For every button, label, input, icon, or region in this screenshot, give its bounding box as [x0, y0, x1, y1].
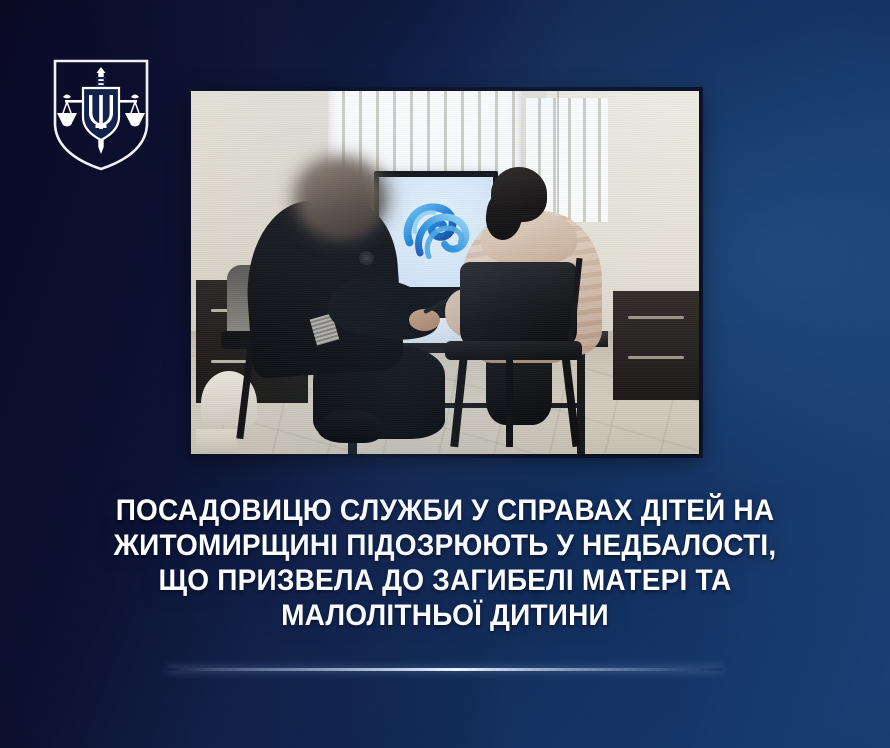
headline-line-2: ЖИТОМИРЩИНІ ПІДОЗРЮЮТЬ У НЕДБАЛОСТІ, — [65, 528, 825, 563]
news-photograph — [189, 89, 701, 456]
page-title: ПОСАДОВИЦЮ СЛУЖБИ У СПРАВАХ ДІТЕЙ НА ЖИТ… — [45, 493, 845, 633]
prosecutor-emblem-icon — [49, 55, 153, 173]
office-chair-foreground — [460, 262, 577, 349]
headline-line-3: ЩО ПРИЗВЕЛА ДО ЗАГИБЕЛІ МАТЕРІ ТА — [65, 563, 825, 598]
decorative-divider — [167, 668, 723, 671]
office-cabinet-right — [613, 291, 699, 400]
headline-line-1: ПОСАДОВИЦЮ СЛУЖБИ У СПРАВАХ ДІТЕЙ НА — [65, 493, 825, 528]
photo-content — [191, 91, 699, 454]
headline-line-4: МАЛОЛІТНЬОЇ ДИТИНИ — [65, 598, 825, 633]
news-poster: ПОСАДОВИЦЮ СЛУЖБИ У СПРАВАХ ДІТЕЙ НА ЖИТ… — [0, 0, 890, 748]
